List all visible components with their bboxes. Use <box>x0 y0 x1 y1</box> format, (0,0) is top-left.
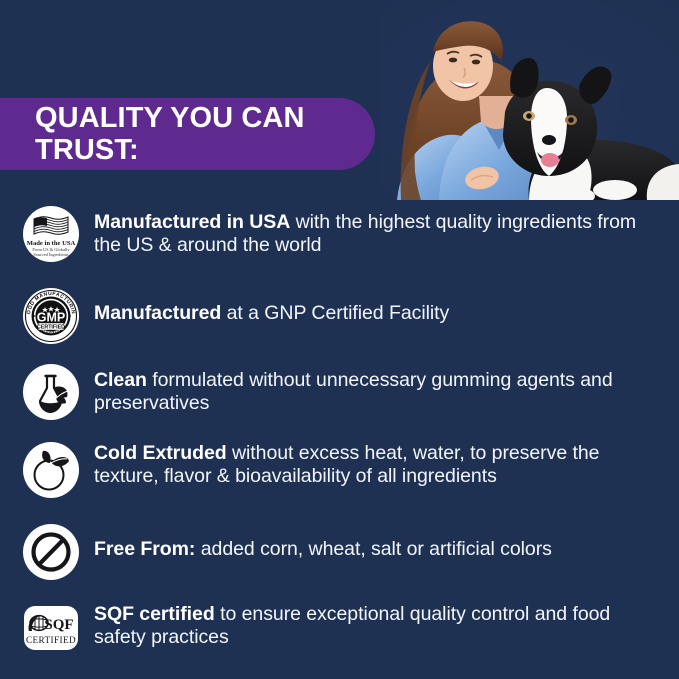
promo-infographic: QUALITY YOU CAN TRUST: Made i <box>0 0 679 679</box>
gmp-certified-badge-icon: GOOD MANUFACTURING PRACTICE GMP CERTIFIE… <box>22 287 80 345</box>
feature-row: Cold Extruded without excess heat, water… <box>0 441 679 501</box>
feature-text: Cold Extruded without excess heat, water… <box>94 441 665 488</box>
svg-text:CERTIFIED: CERTIFIED <box>26 635 76 645</box>
feature-text: SQF certified to ensure exceptional qual… <box>94 599 665 649</box>
hero-illustration <box>379 0 679 200</box>
feature-bold: Cold Extruded <box>94 442 227 464</box>
svg-text:CERTIFIED: CERTIFIED <box>37 324 65 330</box>
svg-text:Made in the USA: Made in the USA <box>27 240 76 247</box>
feature-rest: added corn, wheat, salt or artificial co… <box>195 538 552 560</box>
feature-bold: Manufactured in USA <box>94 211 290 233</box>
prohibition-sign-icon <box>22 523 80 581</box>
feature-list: Made in the USA From US & Globally Sourc… <box>0 205 679 664</box>
flask-with-leaf-icon <box>22 363 80 421</box>
feature-row: Made in the USA From US & Globally Sourc… <box>0 205 679 265</box>
feature-bold: Manufactured <box>94 302 221 324</box>
feature-text: Manufactured at a GNP Certified Facility <box>94 287 449 325</box>
feature-rest: at a GNP Certified Facility <box>221 302 449 324</box>
quality-banner: QUALITY YOU CAN TRUST: <box>0 98 375 170</box>
svg-text:Sourced Ingredients: Sourced Ingredients <box>33 252 69 257</box>
made-in-usa-badge-icon: Made in the USA From US & Globally Sourc… <box>22 205 80 263</box>
svg-text:GMP: GMP <box>37 311 65 325</box>
hero-photo-vet-and-dog <box>379 0 679 200</box>
sqf-certified-badge-icon: SQF CERTIFIED <box>22 599 80 657</box>
feature-row: Free From: added corn, wheat, salt or ar… <box>0 523 679 583</box>
feature-text: Free From: added corn, wheat, salt or ar… <box>94 523 552 561</box>
feature-bold: Clean <box>94 369 147 391</box>
svg-text:SQF: SQF <box>44 617 73 633</box>
feature-row: Clean formulated without unnecessary gum… <box>0 363 679 423</box>
feature-rest: formulated without unnecessary gumming a… <box>94 369 613 414</box>
banner-title: QUALITY YOU CAN TRUST: <box>0 102 319 167</box>
feature-text: Clean formulated without unnecessary gum… <box>94 363 665 415</box>
feature-row: GOOD MANUFACTURING PRACTICE GMP CERTIFIE… <box>0 287 679 347</box>
feature-text: Manufactured in USA with the highest qua… <box>94 205 665 257</box>
fruit-with-leaves-icon <box>22 441 80 499</box>
feature-bold: Free From: <box>94 538 195 560</box>
feature-row: SQF CERTIFIED SQF certified to ensure ex… <box>0 599 679 659</box>
feature-bold: SQF certified <box>94 603 215 625</box>
